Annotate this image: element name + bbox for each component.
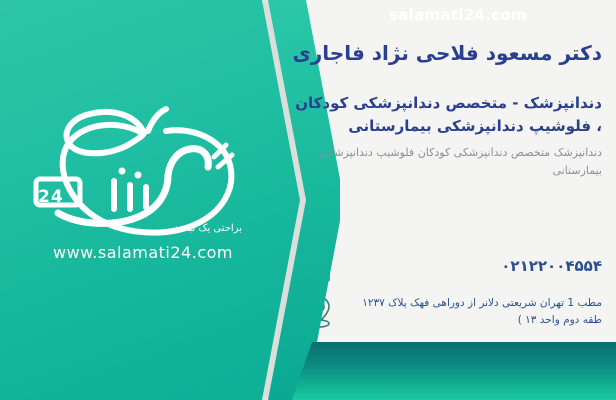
- doctor-specialty: دندانپزشک - متخصص دندانپزشکی کودکان ، فل…: [286, 92, 602, 139]
- logo-tagline: براحتی یک لبخند: [175, 223, 243, 234]
- brand-logo: 24 براحتی یک لبخند www.salamati24.com: [18, 105, 268, 280]
- business-card: 24 براحتی یک لبخند www.salamati24.com دک…: [0, 0, 616, 400]
- doctor-specialty-sub: دندانپزشک متخصص دندانپزشکی کودکان فلوشیپ…: [286, 144, 602, 181]
- card-content: دکتر مسعود فلاحی نژاد فاجاری دندانپزشک -…: [286, 0, 616, 400]
- logo-url: www.salamati24.com: [18, 243, 268, 262]
- logo-badge: 24: [38, 187, 64, 207]
- doctor-name: دکتر مسعود فلاحی نژاد فاجاری: [286, 40, 602, 66]
